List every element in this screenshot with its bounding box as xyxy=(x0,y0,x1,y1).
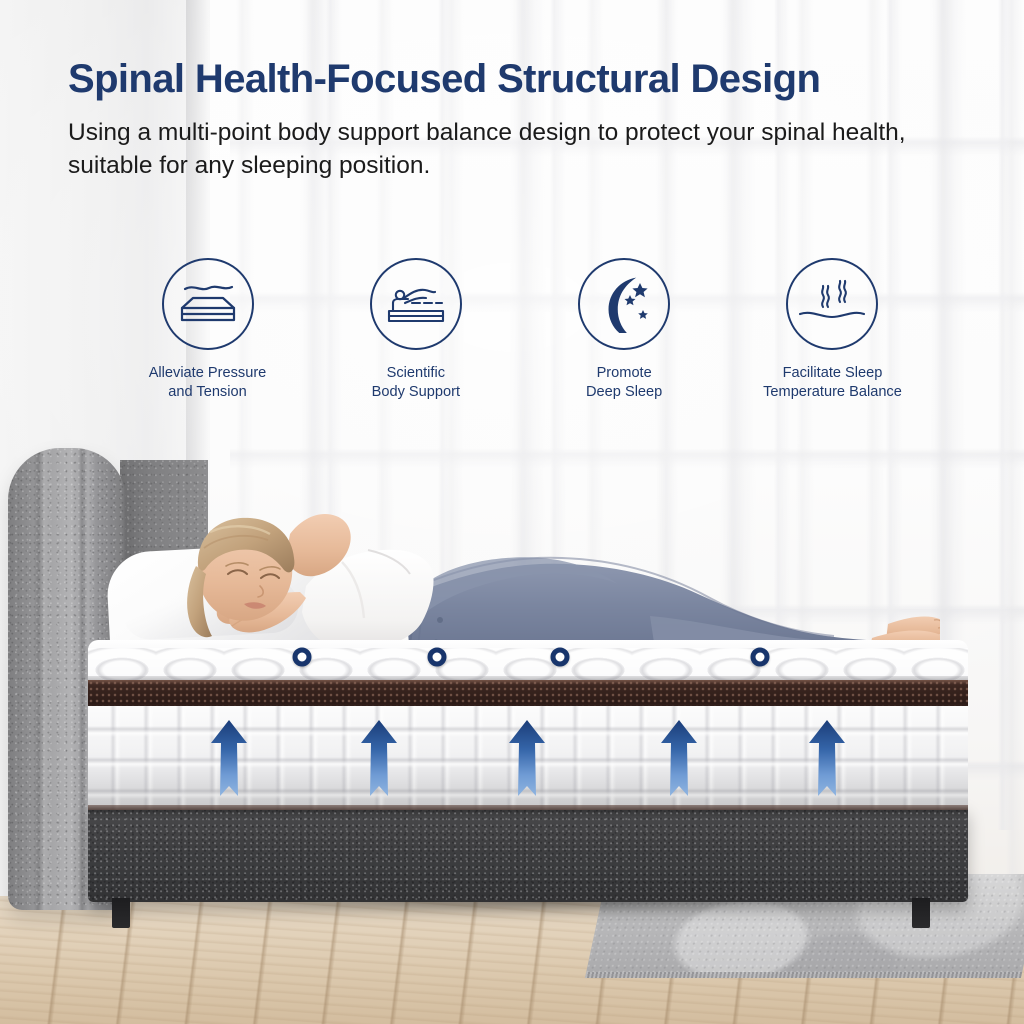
support-arrow xyxy=(806,718,848,800)
feature-label: Promote Deep Sleep xyxy=(586,364,662,403)
support-point-marker xyxy=(751,648,770,667)
product-marketing-image: Spinal Health-Focused Structural Design … xyxy=(0,0,1024,1024)
metal-bed-leg xyxy=(112,898,130,928)
support-point-marker xyxy=(428,648,447,667)
support-arrow xyxy=(506,718,548,800)
page-headline: Spinal Health-Focused Structural Design xyxy=(68,58,968,101)
mesh-perforations xyxy=(88,680,968,708)
body-support-icon xyxy=(370,258,462,350)
mesh-vent-band xyxy=(88,680,968,708)
mattress-bottom-trim xyxy=(88,805,968,810)
foundation-fabric-texture xyxy=(88,806,968,902)
heat-waves-icon xyxy=(786,258,878,350)
metal-bed-leg xyxy=(912,898,930,928)
page-subtitle: Using a multi-point body support balance… xyxy=(68,116,948,183)
feature-icon-row: Alleviate Pressure and Tension Scientifi… xyxy=(110,258,930,418)
feature-deep-sleep: Promote Deep Sleep xyxy=(527,258,722,403)
support-point-marker xyxy=(551,648,570,667)
feature-alleviate-pressure: Alleviate Pressure and Tension xyxy=(110,258,305,403)
mattress-pressure-icon xyxy=(162,258,254,350)
feature-label: Facilitate Sleep Temperature Balance xyxy=(763,364,902,403)
rug-fringe xyxy=(585,972,1022,978)
support-arrow xyxy=(358,718,400,800)
support-point-marker xyxy=(293,648,312,667)
feature-label: Alleviate Pressure and Tension xyxy=(149,364,267,403)
support-arrow xyxy=(208,718,250,800)
support-arrow xyxy=(658,718,700,800)
pillow-top-layer xyxy=(88,640,968,682)
feature-body-support: Scientific Body Support xyxy=(318,258,513,403)
fabric-foundation xyxy=(88,806,968,902)
side-sleeping-woman xyxy=(110,470,940,660)
feature-temperature-balance: Facilitate Sleep Temperature Balance xyxy=(735,258,930,403)
moon-stars-icon xyxy=(578,258,670,350)
feature-label: Scientific Body Support xyxy=(372,364,460,403)
